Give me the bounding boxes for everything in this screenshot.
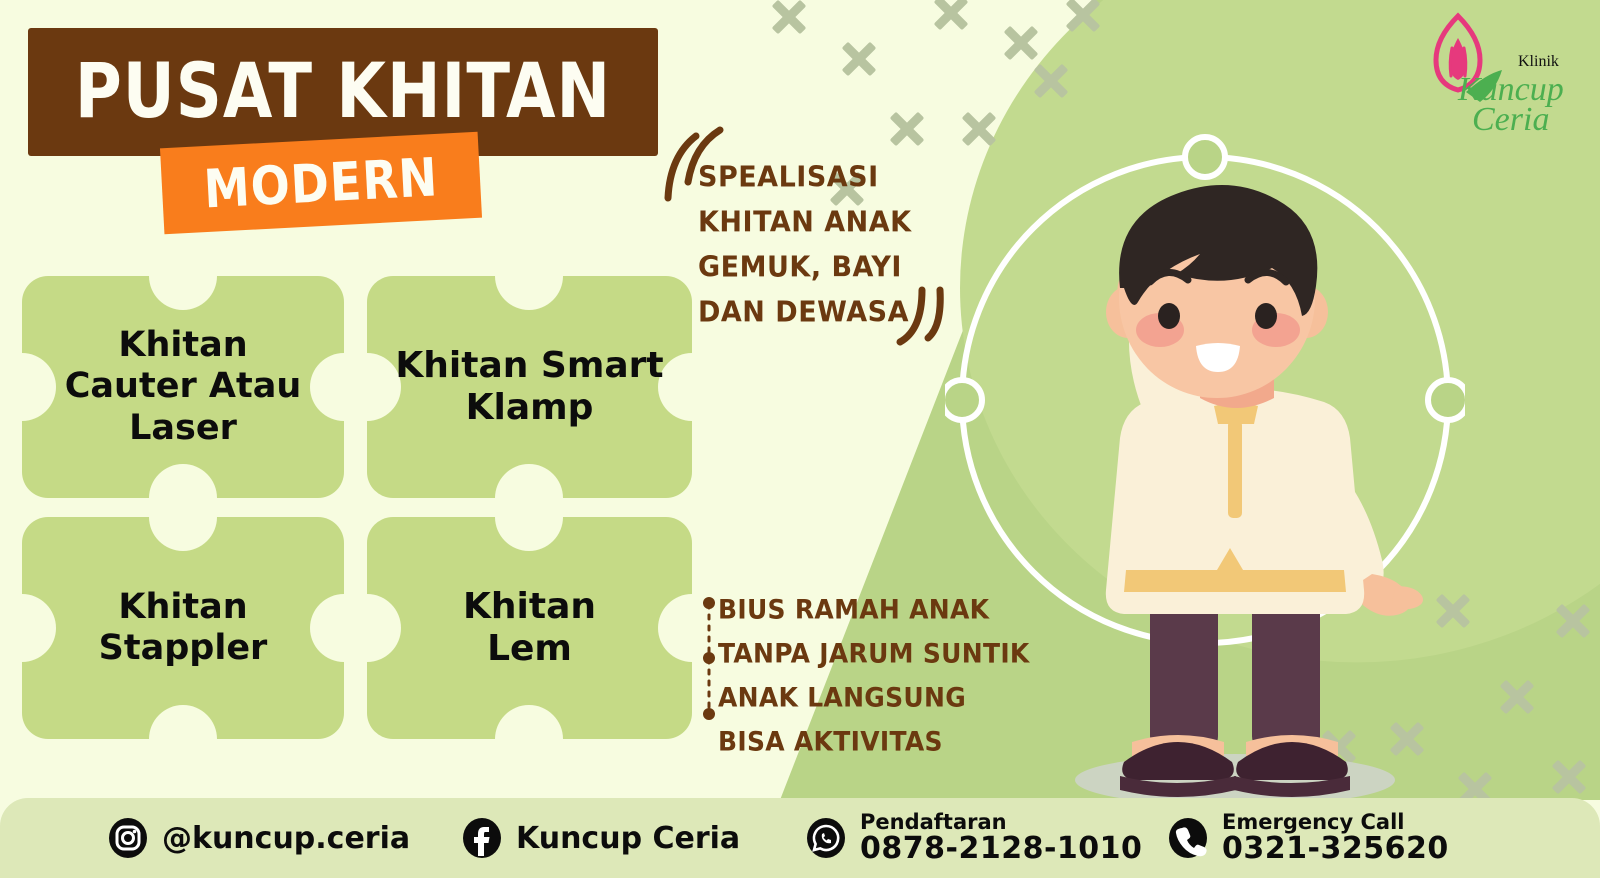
phone-icon xyxy=(1168,818,1208,858)
whatsapp-label: Pendaftaran xyxy=(860,811,1142,833)
feature-bullet-connector xyxy=(700,596,718,721)
card-khitan-stappler[interactable]: KhitanStappler xyxy=(22,517,344,739)
card-khitan-smart-klamp[interactable]: Khitan SmartKlamp xyxy=(367,276,692,498)
card-label: Khitan SmartKlamp xyxy=(377,345,681,430)
cross-icon xyxy=(886,108,928,150)
card-label: KhitanLem xyxy=(445,586,614,671)
quote-line: GEMUK, BAYI xyxy=(698,244,912,292)
phone-label: Emergency Call xyxy=(1222,811,1449,833)
instagram-icon xyxy=(108,818,148,858)
contact-phone[interactable]: Emergency Call 0321-325620 xyxy=(1168,811,1449,865)
contact-footer: @kuncup.ceria Kuncup Ceria Pendaftaran xyxy=(0,798,1600,878)
page-title: PUSAT KHITAN xyxy=(75,48,611,135)
banner-subtitle-box: MODERN xyxy=(160,132,482,235)
whatsapp-number: 0878-2128-1010 xyxy=(860,833,1142,865)
svg-text:Klinik: Klinik xyxy=(1518,53,1559,70)
feature-item: BISA AKTIVITAS xyxy=(718,719,1058,765)
cross-icon xyxy=(1000,22,1042,64)
card-khitan-lem[interactable]: KhitanLem xyxy=(367,517,692,739)
contact-facebook[interactable]: Kuncup Ceria xyxy=(462,818,740,858)
card-label: KhitanStappler xyxy=(81,587,286,670)
banner-title-box: PUSAT KHITAN xyxy=(28,28,658,156)
specialization-text: SPEALISASI KHITAN ANAK GEMUK, BAYI DAN D… xyxy=(698,155,912,335)
whatsapp-icon xyxy=(806,818,846,858)
boy-illustration xyxy=(1000,170,1470,810)
facebook-name: Kuncup Ceria xyxy=(516,821,740,856)
contact-instagram[interactable]: @kuncup.ceria xyxy=(108,818,410,858)
clinic-logo: Klinik Kuncup Ceria xyxy=(1410,8,1580,136)
feature-item: ANAK LANGSUNG xyxy=(718,675,1058,721)
cross-icon xyxy=(930,0,972,34)
quote-line: SPEALISASI xyxy=(698,154,912,202)
cross-icon xyxy=(768,0,810,38)
svg-text:Ceria: Ceria xyxy=(1472,101,1549,136)
card-khitan-cauter-laser[interactable]: KhitanCauter AtauLaser xyxy=(22,276,344,498)
cross-icon xyxy=(838,38,880,80)
feature-list: BIUS RAMAH ANAK TANPA JARUM SUNTIK ANAK … xyxy=(718,588,1058,764)
contact-whatsapp[interactable]: Pendaftaran 0878-2128-1010 xyxy=(806,811,1142,865)
service-cards: KhitanCauter AtauLaser Khitan SmartKlamp… xyxy=(22,276,712,746)
facebook-icon xyxy=(462,818,502,858)
quote-line: KHITAN ANAK xyxy=(698,199,912,247)
promo-banner: PUSAT KHITAN MODERN SPEALISASI KHITAN AN… xyxy=(0,0,1600,878)
feature-item: BIUS RAMAH ANAK xyxy=(718,587,1058,633)
instagram-handle: @kuncup.ceria xyxy=(162,821,410,856)
quote-line: DAN DEWASA xyxy=(698,289,912,337)
card-label: KhitanCauter AtauLaser xyxy=(47,325,320,449)
feature-item: TANPA JARUM SUNTIK xyxy=(718,631,1058,677)
phone-number: 0321-325620 xyxy=(1222,833,1449,865)
page-subtitle: MODERN xyxy=(202,146,439,220)
